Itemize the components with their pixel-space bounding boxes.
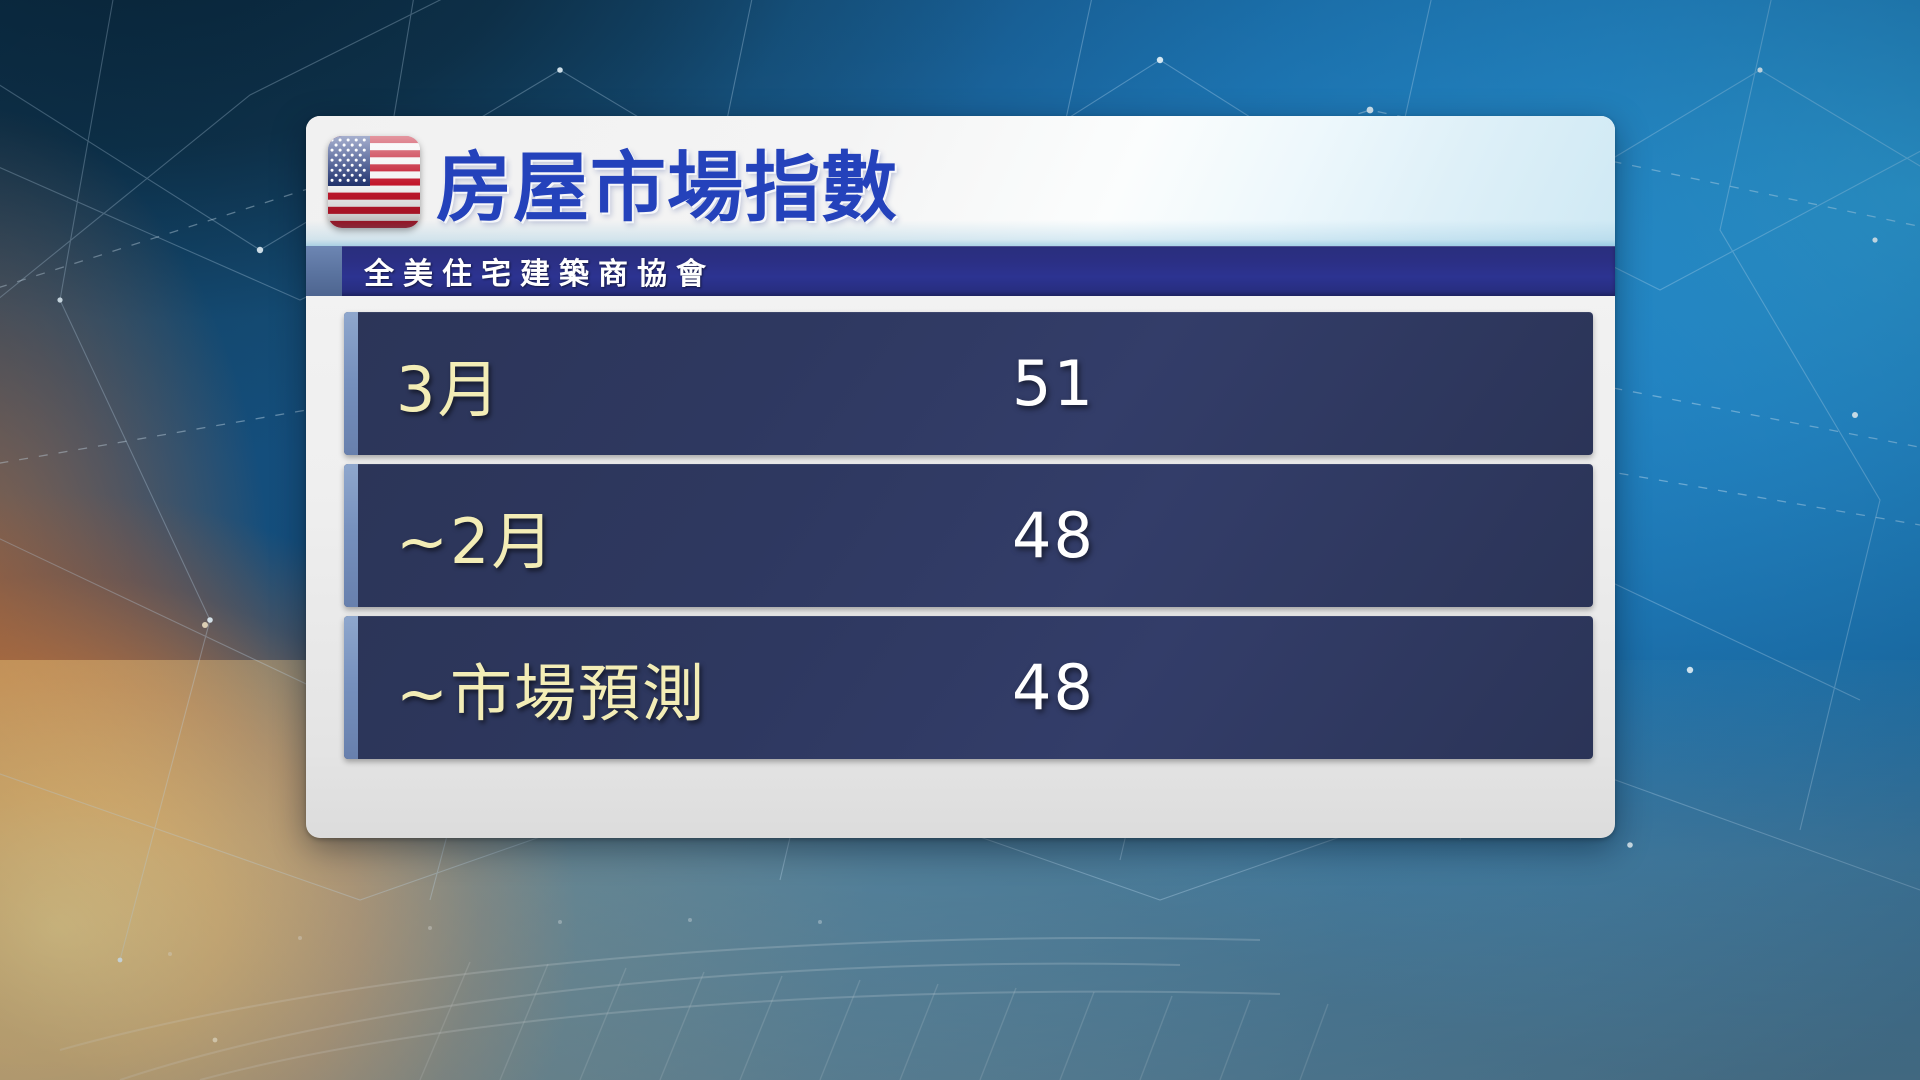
flag-gloss-overlay xyxy=(328,136,420,228)
table-row: ~市場預測 48 xyxy=(344,616,1593,759)
row-accent-bar xyxy=(344,616,358,759)
subtitle-accent-block xyxy=(306,246,342,296)
row-value: 48 xyxy=(1012,651,1095,724)
page-title: 房屋市場指數 xyxy=(436,126,898,236)
broadcast-graphic-stage: 房屋市場指數 全美住宅建築商協會 3月 51 ~2月 48 ~市場預測 48 xyxy=(0,0,1920,1080)
row-label: 3月 xyxy=(396,339,501,429)
info-panel: 房屋市場指數 全美住宅建築商協會 3月 51 ~2月 48 ~市場預測 48 xyxy=(306,116,1615,838)
data-rows: 3月 51 ~2月 48 ~市場預測 48 xyxy=(306,296,1615,759)
row-accent-bar xyxy=(344,464,358,607)
panel-subtitle: 全美住宅建築商協會 xyxy=(364,249,715,293)
table-row: ~2月 48 xyxy=(344,464,1593,607)
panel-subtitle-band: 全美住宅建築商協會 xyxy=(306,246,1615,296)
us-flag-icon xyxy=(328,136,420,228)
table-row: 3月 51 xyxy=(344,312,1593,455)
panel-header: 房屋市場指數 xyxy=(306,116,1615,246)
row-label: ~市場預測 xyxy=(396,643,706,733)
row-label: ~2月 xyxy=(396,491,555,581)
row-value: 48 xyxy=(1012,499,1095,572)
row-value: 51 xyxy=(1012,347,1095,420)
row-accent-bar xyxy=(344,312,358,455)
